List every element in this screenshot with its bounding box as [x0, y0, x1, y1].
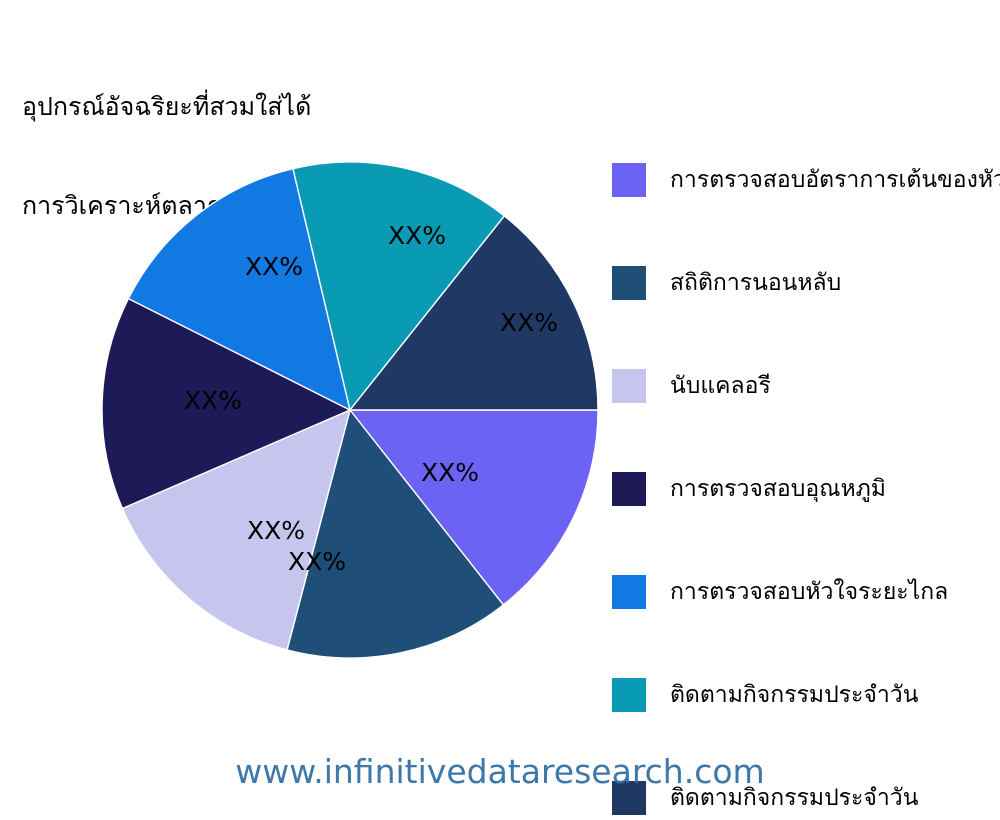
legend-color-swatch	[612, 575, 646, 609]
legend-item-label: การตรวจสอบอัตราการเต้นของหัวใจ	[670, 166, 1000, 194]
legend-color-swatch	[612, 163, 646, 197]
legend-item-label: ติดตามกิจกรรมประจำวัน	[670, 784, 918, 812]
legend-item-label: การตรวจสอบหัวใจระยะไกล	[670, 578, 948, 606]
legend-item[interactable]: ติดตามกิจกรรมประจำวัน	[612, 776, 918, 820]
pie-slice-label: XX%	[421, 458, 479, 487]
legend-color-swatch	[612, 266, 646, 300]
legend: การตรวจสอบอัตราการเต้นของหัวใจสถิติการนอ…	[612, 150, 1000, 800]
legend-item[interactable]: การตรวจสอบหัวใจระยะไกล	[612, 570, 948, 614]
pie-chart-figure: อุปกรณ์อัจฉริยะที่สวมใส่ได้ การวิเคราะห์…	[0, 0, 1000, 800]
pie-slice-label: XX%	[184, 386, 242, 415]
legend-color-swatch	[612, 781, 646, 815]
pie-chart-svg: XX%XX%XX%XX%XX%XX%XX%	[0, 0, 620, 800]
pie-slice-label: XX%	[388, 221, 446, 250]
legend-item[interactable]: สถิติการนอนหลับ	[612, 261, 841, 305]
legend-item-label: สถิติการนอนหลับ	[670, 269, 841, 297]
pie-slice-label: XX%	[245, 252, 303, 281]
pie-slice-label: XX%	[500, 308, 558, 337]
pie-slice-group	[102, 162, 598, 658]
pie-chart-area: XX%XX%XX%XX%XX%XX%XX%	[0, 0, 620, 800]
legend-color-swatch	[612, 472, 646, 506]
legend-color-swatch	[612, 678, 646, 712]
legend-item[interactable]: การตรวจสอบอุณหภูมิ	[612, 467, 886, 511]
legend-item[interactable]: การตรวจสอบอัตราการเต้นของหัวใจ	[612, 158, 1000, 202]
pie-slice-label: XX%	[288, 547, 346, 576]
legend-color-swatch	[612, 369, 646, 403]
legend-item-label: นับแคลอรี	[670, 372, 771, 400]
legend-item-label: ติดตามกิจกรรมประจำวัน	[670, 681, 918, 709]
legend-item[interactable]: นับแคลอรี	[612, 364, 771, 408]
legend-item[interactable]: ติดตามกิจกรรมประจำวัน	[612, 673, 918, 717]
legend-item-label: การตรวจสอบอุณหภูมิ	[670, 475, 886, 503]
pie-slice-label: XX%	[247, 516, 305, 545]
